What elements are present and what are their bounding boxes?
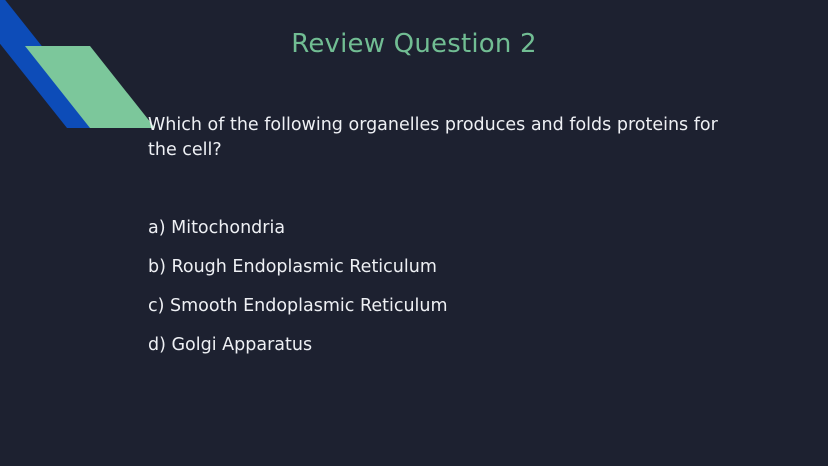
question-text: Which of the following organelles produc…: [148, 113, 748, 163]
list-item[interactable]: d) Golgi Apparatus: [148, 334, 748, 356]
accent-shape-blue: [0, 0, 107, 128]
page-title: Review Question 2: [0, 26, 828, 62]
list-item[interactable]: b) Rough Endoplasmic Reticulum: [148, 256, 748, 278]
list-item[interactable]: a) Mitochondria: [148, 217, 748, 239]
slide-canvas: Review Question 2 Which of the following…: [0, 0, 828, 466]
list-item[interactable]: c) Smooth Endoplasmic Reticulum: [148, 295, 748, 317]
answer-options-list: a) Mitochondria b) Rough Endoplasmic Ret…: [148, 217, 748, 373]
